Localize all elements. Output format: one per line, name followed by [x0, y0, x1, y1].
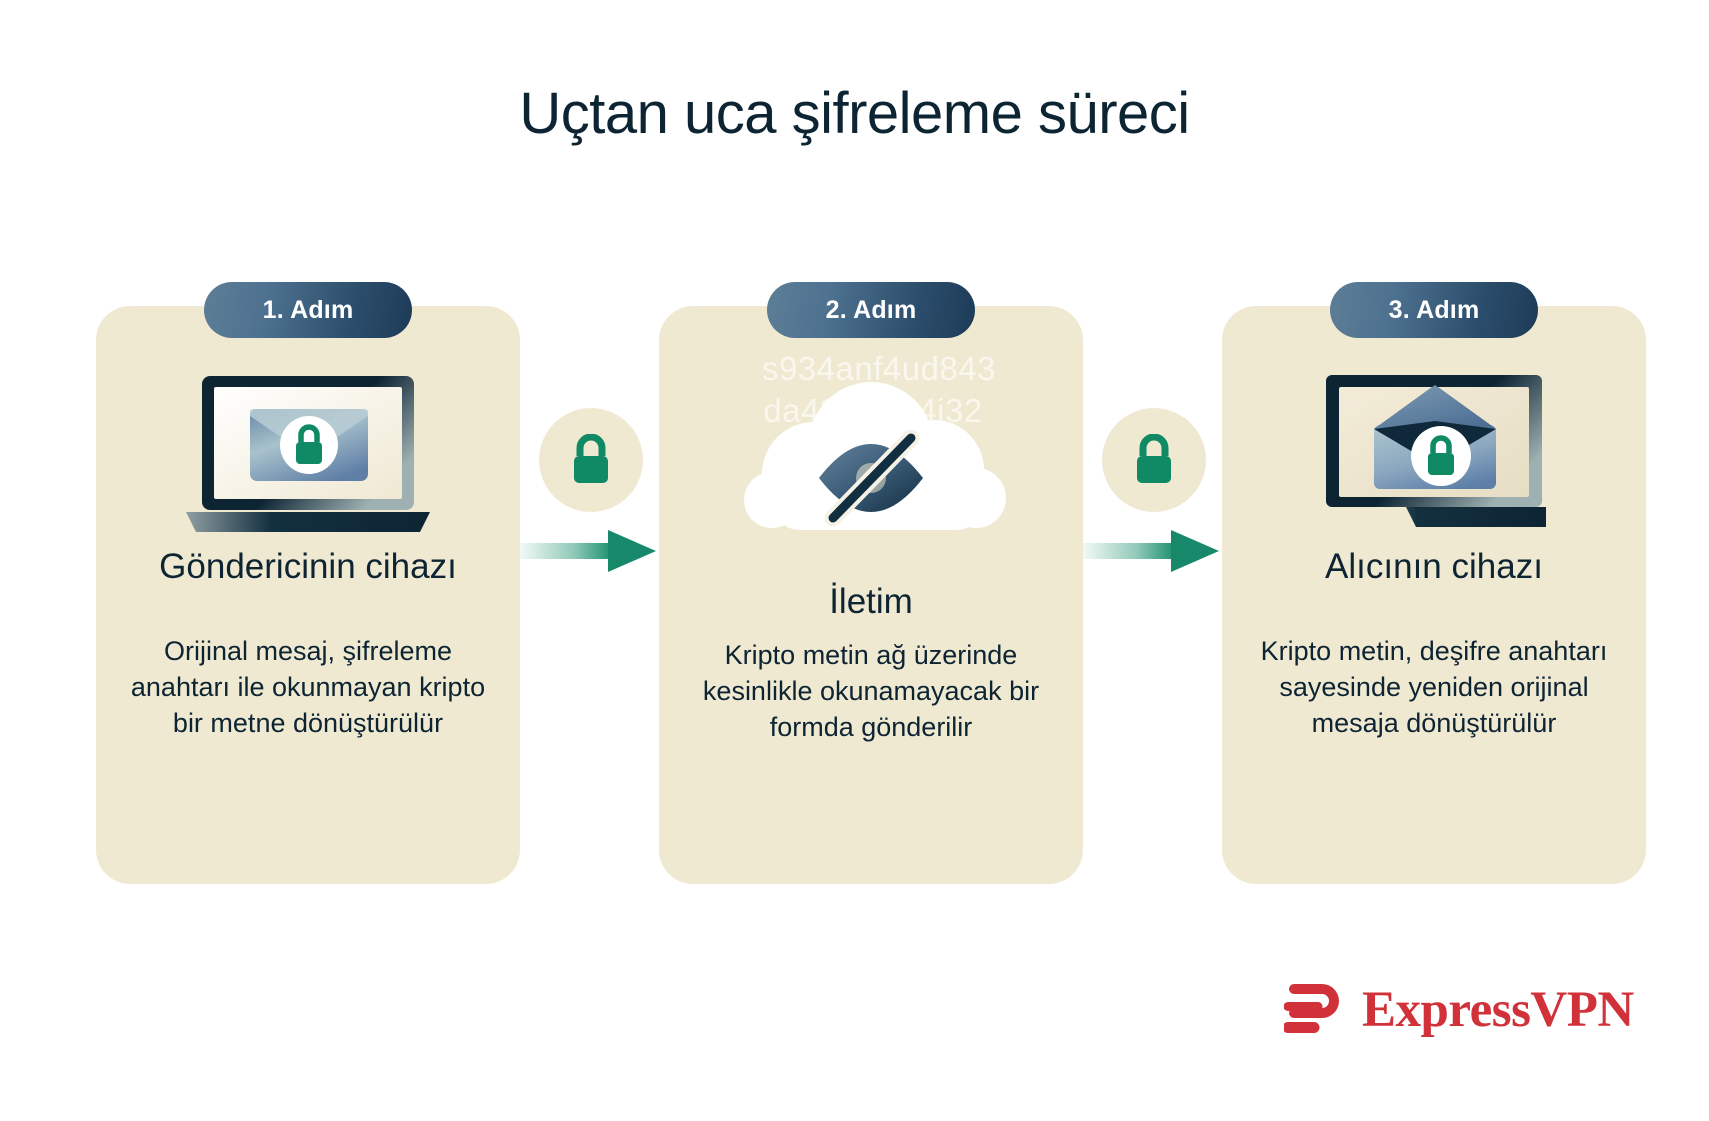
- process-flow: Göndericinin cihazı Orijinal mesaj, şifr…: [0, 282, 1709, 882]
- step-body-1: Orijinal mesaj, şifreleme anahtarı ile o…: [96, 634, 520, 742]
- step-badge-3: 3. Adım: [1330, 282, 1538, 338]
- step-heading-3: Alıcının cihazı: [1222, 546, 1646, 587]
- step-card-3: Alıcının cihazı Kripto metin, deşifre an…: [1222, 306, 1646, 884]
- page-title: Uçtan uca şifreleme süreci: [0, 82, 1709, 146]
- expressvpn-e-mark-icon: [1284, 978, 1346, 1043]
- step-heading-2: İletim: [659, 581, 1083, 622]
- laptop-sealed-envelope-lock-icon: [96, 368, 520, 548]
- step-badge-2: 2. Adım: [767, 282, 975, 338]
- step-badge-1: 1. Adım: [204, 282, 412, 338]
- connector-1: [520, 306, 663, 884]
- step-body-2: Kripto metin ağ üzerinde kesinlikle okun…: [659, 638, 1083, 746]
- padlock-icon: [1102, 408, 1206, 512]
- connector-2: [1083, 306, 1226, 884]
- step-card-1: Göndericinin cihazı Orijinal mesaj, şifr…: [96, 306, 520, 884]
- expressvpn-logo: ExpressVPN: [1284, 978, 1634, 1043]
- arrow-right-icon: [1083, 528, 1226, 574]
- step-heading-1: Göndericinin cihazı: [96, 546, 520, 587]
- monitor-open-envelope-lock-icon: [1222, 364, 1646, 549]
- expressvpn-wordmark: ExpressVPN: [1362, 985, 1634, 1036]
- arrow-right-icon: [520, 528, 663, 574]
- step-card-2: s934anf4ud843 da48waid 4j32 dj02 43: [659, 306, 1083, 884]
- cloud-hidden-eye-icon: [659, 346, 1083, 576]
- padlock-icon: [539, 408, 643, 512]
- step-body-3: Kripto metin, deşifre anahtarı sayesinde…: [1222, 634, 1646, 742]
